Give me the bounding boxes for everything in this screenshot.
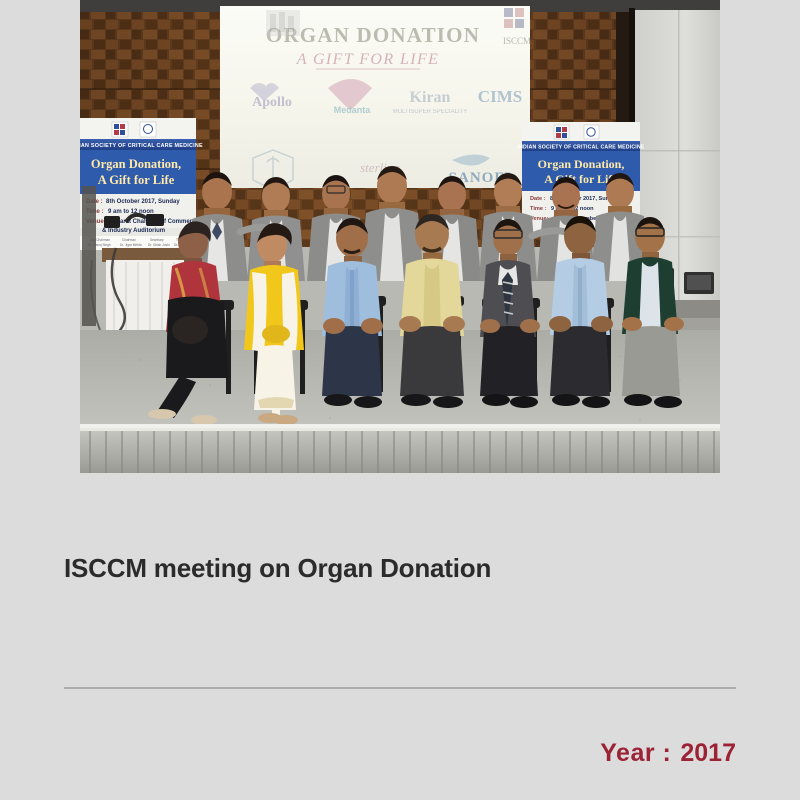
svg-text:9 am to 12 noon: 9 am to 12 noon	[108, 209, 154, 215]
event-year: Year :2017	[64, 736, 736, 770]
event-card: ORGAN DONATION A GIFT FOR LIFE ISCCM	[0, 0, 800, 800]
svg-text:Dr. Jigar Mehta: Dr. Jigar Mehta	[120, 243, 142, 247]
event-photo: ORGAN DONATION A GIFT FOR LIFE ISCCM	[80, 0, 720, 473]
svg-text:8th October 2017, Sunday: 8th October 2017, Sunday	[106, 199, 180, 205]
svg-text:Organ Donation,: Organ Donation,	[91, 157, 181, 171]
svg-text:A GIFT FOR LIFE: A GIFT FOR LIFE	[296, 51, 440, 68]
svg-text:Kiran: Kiran	[410, 89, 451, 106]
svg-text:MULTISUPER SPECIALITY: MULTISUPER SPECIALITY	[393, 109, 468, 115]
svg-text:CIMS: CIMS	[478, 87, 522, 106]
svg-text:Organ Donation,: Organ Donation,	[538, 157, 625, 171]
year-value: 2017	[680, 739, 736, 767]
svg-text:Date :: Date :	[530, 196, 546, 202]
svg-text:Dr. Girish Joshi: Dr. Girish Joshi	[148, 243, 170, 247]
year-label: Year :	[600, 739, 671, 767]
svg-text:INDIAN SOCIETY OF CRITICAL CAR: INDIAN SOCIETY OF CRITICAL CARE MEDICINE	[80, 143, 203, 149]
svg-text:A Gift for Life: A Gift for Life	[98, 173, 175, 187]
svg-text:Time :: Time :	[530, 206, 547, 212]
svg-text:& Industry Auditorium: & Industry Auditorium	[102, 228, 165, 234]
event-photo-graphic: ORGAN DONATION A GIFT FOR LIFE ISCCM	[80, 0, 720, 473]
svg-text:Chairman: Chairman	[122, 238, 136, 242]
svg-text:Secretary: Secretary	[150, 238, 164, 242]
section-divider	[64, 687, 736, 689]
event-title: ISCCM meeting on Organ Donation	[64, 549, 736, 587]
svg-text:Apollo: Apollo	[252, 95, 292, 110]
svg-text:ISCCM: ISCCM	[503, 36, 531, 46]
svg-text:INDIAN SOCIETY OF CRITICAL CAR: INDIAN SOCIETY OF CRITICAL CARE MEDICINE	[517, 145, 644, 151]
svg-text:Medanta: Medanta	[334, 105, 372, 115]
